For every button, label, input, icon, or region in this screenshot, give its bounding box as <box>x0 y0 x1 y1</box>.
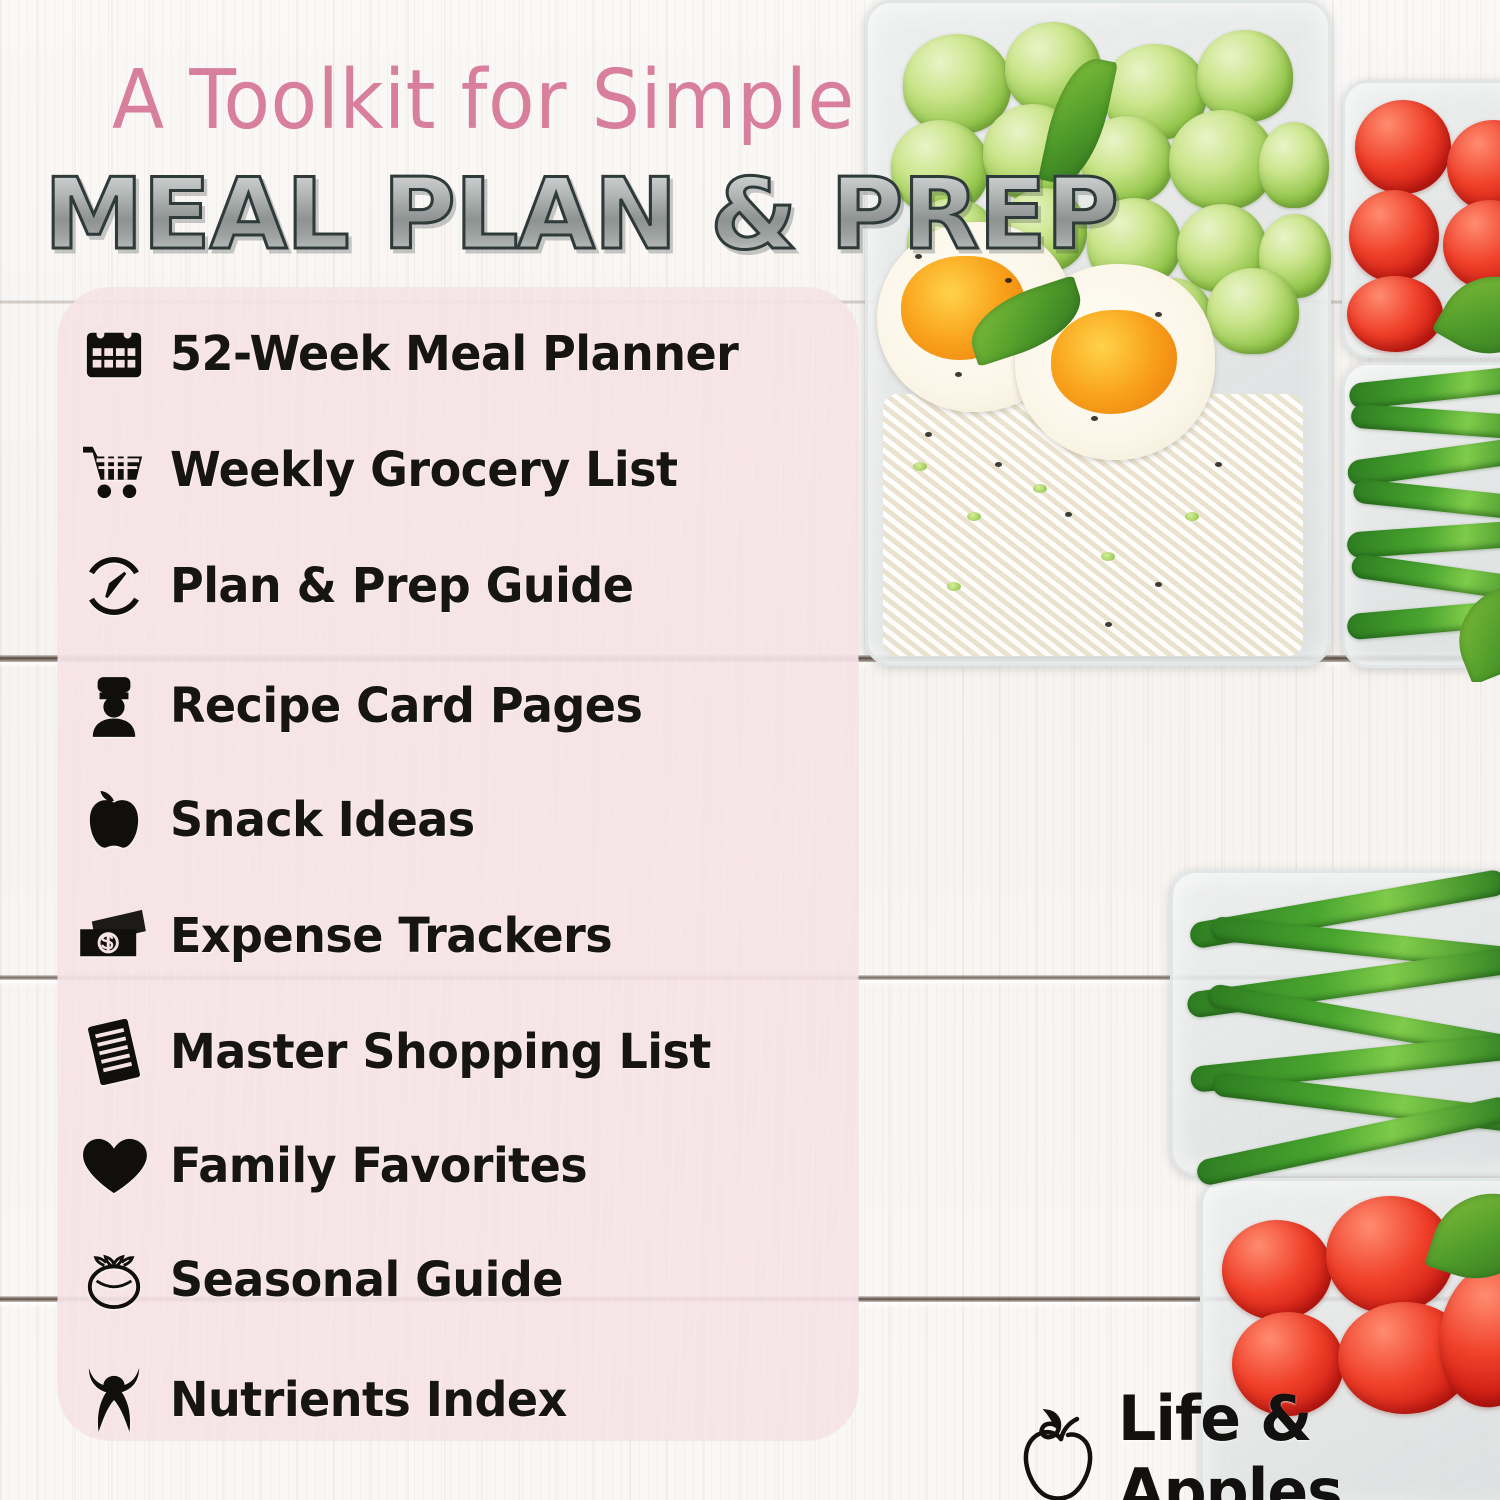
brand-logo[interactable]: Life & Apples <box>1018 1382 1500 1500</box>
meal-prep-photo-top <box>855 0 1500 682</box>
list-item-label: Weekly Grocery List <box>170 442 677 498</box>
list-item[interactable]: Expense Trackers <box>58 880 858 992</box>
heart-icon <box>58 1137 170 1195</box>
list-item-label: 52-Week Meal Planner <box>170 326 738 382</box>
list-item[interactable]: 52-Week Meal Planner <box>58 298 858 410</box>
apple-icon <box>58 789 170 851</box>
person-raising-arms-icon <box>58 1366 170 1434</box>
list-item[interactable]: Snack Ideas <box>58 764 858 876</box>
list-item[interactable]: Seasonal Guide <box>58 1224 858 1336</box>
list-item-label: Seasonal Guide <box>170 1252 563 1308</box>
list-item-label: Family Favorites <box>170 1138 587 1194</box>
chef-icon <box>58 675 170 737</box>
shopping-cart-icon <box>58 439 170 501</box>
list-item-label: Recipe Card Pages <box>170 678 642 734</box>
page-title: MEAL PLAN & PREP <box>44 166 1118 264</box>
money-icon <box>58 908 170 964</box>
apple-outline-icon <box>1018 1407 1104 1500</box>
list-item-label: Snack Ideas <box>170 792 475 848</box>
kicker-text: A Toolkit for Simple <box>112 60 855 142</box>
list-item[interactable]: Weekly Grocery List <box>58 414 858 526</box>
list-item-label: Nutrients Index <box>170 1372 567 1428</box>
list-item[interactable]: Recipe Card Pages <box>58 650 858 762</box>
brand-name: Life & Apples <box>1118 1382 1489 1500</box>
list-item[interactable]: Nutrients Index <box>58 1344 858 1456</box>
calendar-icon <box>58 323 170 385</box>
compass-icon <box>58 556 170 616</box>
list-item-label: Expense Trackers <box>170 908 612 964</box>
list-item[interactable]: Family Favorites <box>58 1110 858 1222</box>
product-infographic: A Toolkit for Simple MEAL PLAN & PREP <box>0 0 1500 1500</box>
list-item[interactable]: Plan & Prep Guide <box>58 530 858 642</box>
list-item-label: Master Shopping List <box>170 1024 711 1080</box>
document-list-icon <box>58 1019 170 1085</box>
tomato-outline-icon <box>58 1250 170 1310</box>
list-item-label: Plan & Prep Guide <box>170 558 633 614</box>
list-item[interactable]: Master Shopping List <box>58 996 858 1108</box>
feature-list: 52-Week Meal Planner Weekly Grocery List <box>58 288 858 1440</box>
